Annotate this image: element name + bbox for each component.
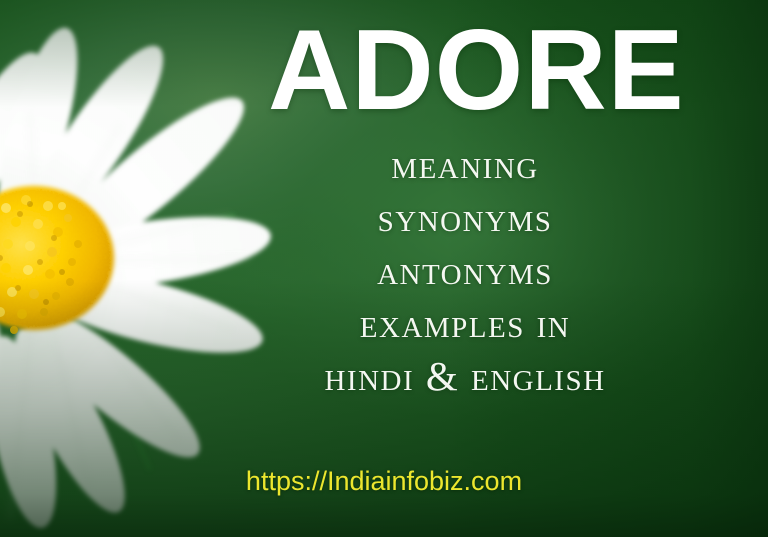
subtitle-line-synonyms: Synonyms [240, 191, 690, 244]
subtitle-line-meaning: Meaning [240, 138, 690, 191]
adore-vocabulary-poster: ADORE Meaning Synonyms Antonyms Examples… [0, 0, 768, 537]
subtitle-block: Meaning Synonyms Antonyms Examples in Hi… [240, 138, 690, 403]
subtitle-line-hindi-and-english: Hindi & English [240, 350, 690, 403]
page-title: ADORE [268, 14, 668, 128]
subtitle-line-examples-in: Examples in [240, 297, 690, 350]
subtitle-line-antonyms: Antonyms [240, 244, 690, 297]
website-url[interactable]: https://Indiainfobiz.com [188, 466, 580, 496]
